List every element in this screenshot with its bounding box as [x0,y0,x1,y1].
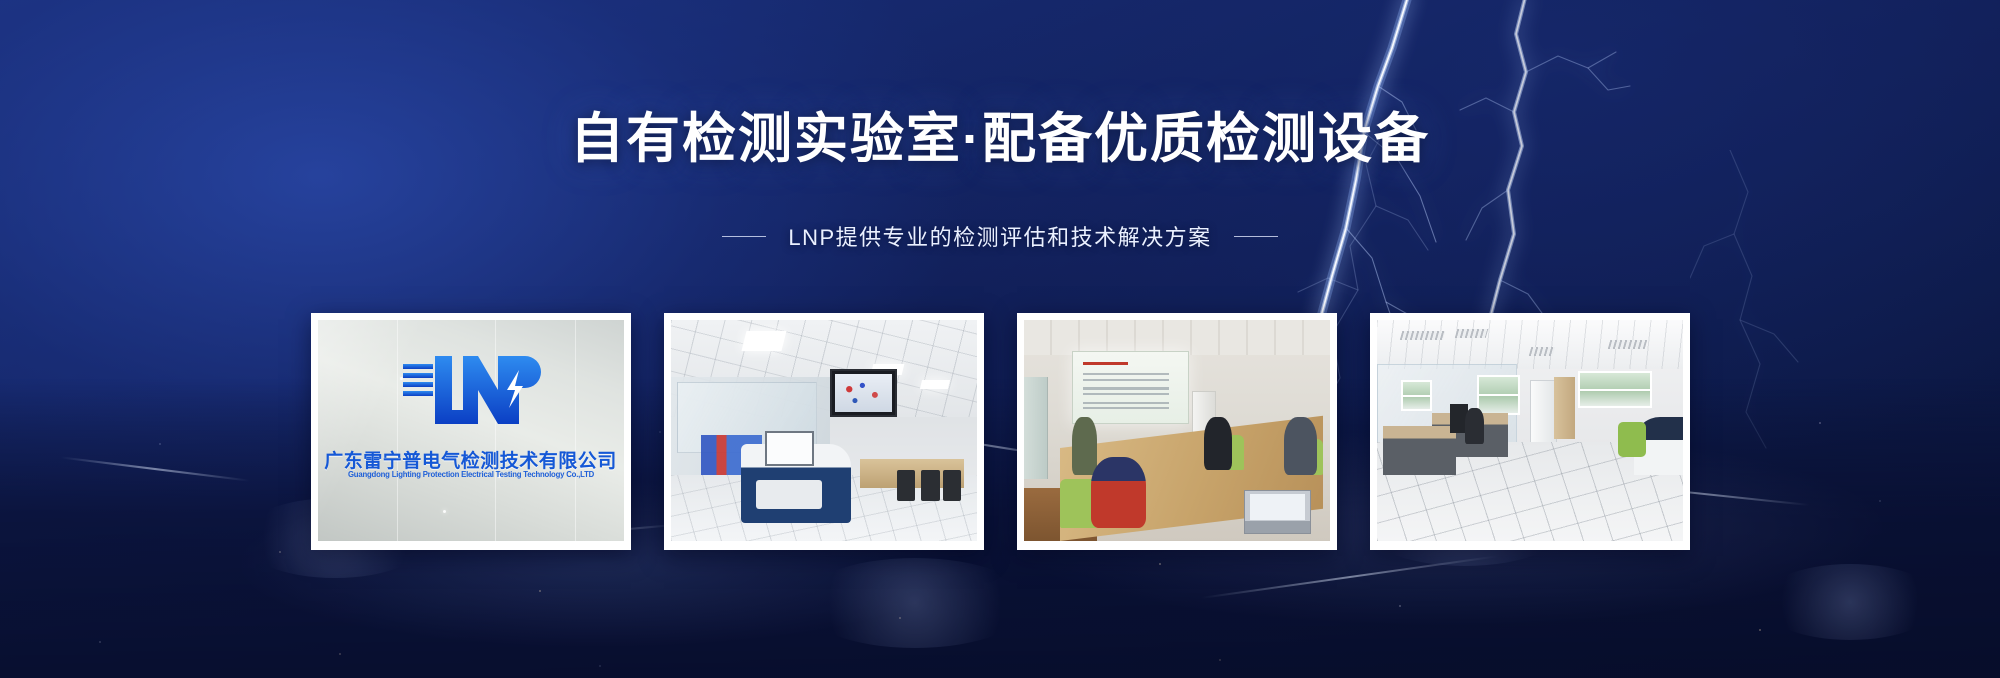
page-subtitle: LNP提供专业的检测评估和技术解决方案 [788,220,1211,252]
gallery-card-company-signage-wall[interactable]: 广东雷宁普电气检测技术有限公司 Guangdong Lighting Prote… [311,313,631,550]
photo-testing-laboratory [671,320,977,541]
hero-banner: 自有检测实验室·配备优质检测设备 LNP提供专业的检测评估和技术解决方案 [0,0,2000,678]
signage-chinese-text: 广东雷宁普电气检测技术有限公司 [318,446,624,473]
photo-office-area [1377,320,1683,541]
page-title: 自有检测实验室·配备优质检测设备 [0,110,2000,169]
photo-gallery: 广东雷宁普电气检测技术有限公司 Guangdong Lighting Prote… [0,313,2000,550]
photo-meeting-presentation-room [1024,320,1330,541]
subtitle-rule-right-icon [1234,236,1278,237]
lnp-logo-icon [401,350,541,436]
signage-english-text: Guangdong Lighting Protection Electrical… [322,470,619,479]
gallery-card-meeting-presentation-room[interactable] [1017,313,1337,550]
subtitle-row: LNP提供专业的检测评估和技术解决方案 [0,220,2000,252]
subtitle-rule-left-icon [722,236,766,237]
gallery-card-testing-laboratory[interactable] [664,313,984,550]
photo-company-signage-wall: 广东雷宁普电气检测技术有限公司 Guangdong Lighting Prote… [318,320,624,541]
laptop-icon [1244,490,1311,534]
projection-screen-icon [1072,351,1188,424]
gallery-card-office-area[interactable] [1370,313,1690,550]
wall-display-icon [830,369,897,418]
